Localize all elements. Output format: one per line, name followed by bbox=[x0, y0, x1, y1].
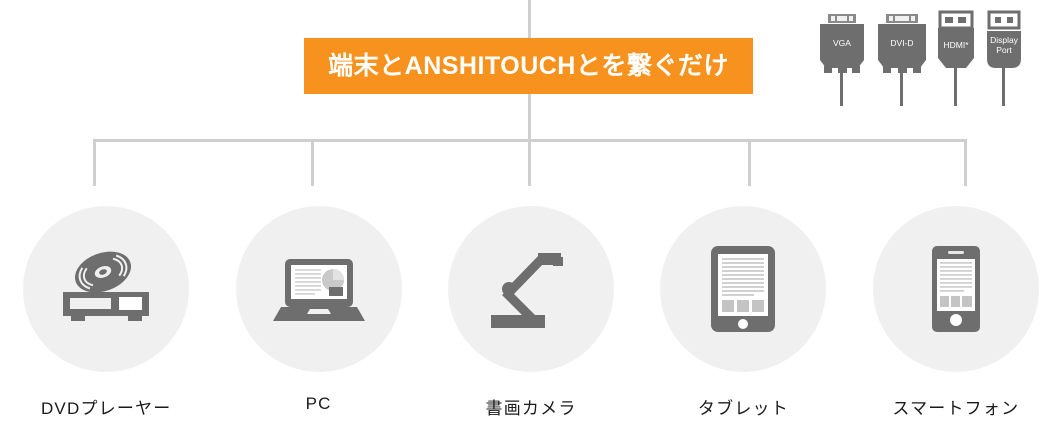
displayport-connector-icon bbox=[980, 8, 1028, 108]
device-item-pc[interactable]: PC bbox=[212, 206, 424, 426]
document-camera-icon bbox=[483, 244, 579, 334]
tree-line-drop-3 bbox=[528, 139, 531, 186]
device-label-document-camera: 書画カメラ bbox=[486, 394, 577, 419]
dvi-d-connector-icon bbox=[872, 8, 932, 108]
device-icon-circle bbox=[660, 206, 826, 372]
device-item-smartphone[interactable]: スマートフォン bbox=[850, 206, 1062, 426]
vga-connector: VGA bbox=[812, 8, 872, 108]
device-label-smartphone: スマートフォン bbox=[892, 394, 1019, 419]
device-icon-circle bbox=[23, 206, 189, 372]
device-label-tablet: タブレット bbox=[698, 394, 789, 419]
dvi-d-connector: DVI-D bbox=[872, 8, 932, 108]
device-item-document-camera[interactable]: 書画カメラ bbox=[425, 206, 637, 426]
connector-icon-group: VGA DVI-D bbox=[812, 8, 1062, 108]
device-list: DVDプレーヤー bbox=[0, 206, 1062, 426]
device-label-dvd-player: DVDプレーヤー bbox=[41, 394, 172, 419]
device-icon-circle bbox=[236, 206, 402, 372]
tree-line-drop-4 bbox=[748, 139, 751, 186]
headline-banner: 端末とANSHITOUCHとを繋ぐだけ bbox=[304, 38, 753, 94]
device-icon-circle bbox=[873, 206, 1039, 372]
headline-banner-text: 端末とANSHITOUCHとを繋ぐだけ bbox=[328, 54, 729, 79]
diagram-canvas: 端末とANSHITOUCHとを繋ぐだけ VGA bbox=[0, 0, 1062, 426]
hdmi-connector: HDMI* bbox=[932, 8, 980, 108]
device-label-pc: PC bbox=[306, 394, 332, 414]
dvd-player-icon bbox=[51, 244, 161, 334]
vga-connector-icon bbox=[812, 8, 872, 108]
tablet-icon bbox=[706, 243, 780, 335]
device-item-tablet[interactable]: タブレット bbox=[637, 206, 849, 426]
displayport-connector: Display Port bbox=[980, 8, 1028, 108]
tree-line-drop-5 bbox=[964, 139, 967, 186]
laptop-icon bbox=[269, 249, 369, 329]
tree-line-drop-1 bbox=[93, 139, 96, 186]
device-icon-circle bbox=[448, 206, 614, 372]
smartphone-icon bbox=[928, 243, 984, 335]
device-item-dvd-player[interactable]: DVDプレーヤー bbox=[0, 206, 212, 426]
hdmi-connector-icon bbox=[932, 8, 980, 108]
tree-line-drop-2 bbox=[311, 139, 314, 186]
